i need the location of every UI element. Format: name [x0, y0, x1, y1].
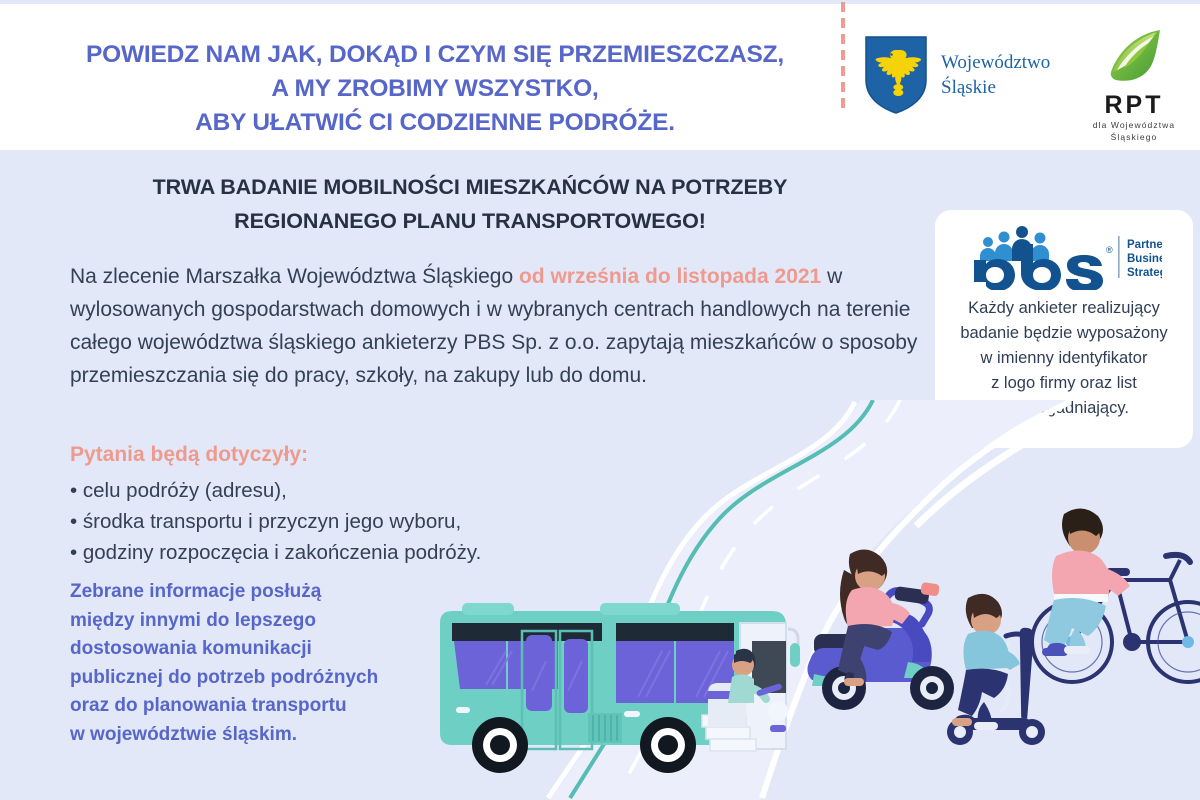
scooter-wheel-front — [910, 666, 954, 710]
silesian-eagle-crest-icon — [865, 36, 927, 114]
green-leaf-icon — [1097, 28, 1171, 90]
pbs-note-line-3: w imienny identyfikator — [960, 346, 1167, 371]
headline-line-3: ABY UŁATWIĆ CI CODZIENNE PODRÓŻE. — [40, 106, 830, 140]
bus-wheel-front — [640, 717, 696, 773]
pbs-people-logo-icon: ® Partner in Business Strategies — [966, 224, 1162, 290]
paragraph-highlight: od września do listopada 2021 — [519, 265, 821, 288]
bus-wheel-rear — [472, 717, 528, 773]
subheading-line-1: TRWA BADANIE MOBILNOŚCI MIESZKAŃCÓW NA P… — [60, 170, 880, 204]
voivodeship-logo-text: Województwo Śląskie — [941, 50, 1050, 100]
closing-line-4: publicznej do potrzeb podróżnych — [70, 664, 470, 693]
headline-line-1: POWIEDZ NAM JAK, DOKĄD I CZYM SIĘ PRZEMI… — [40, 38, 830, 72]
closing-line-1: Zebrane informacje posłużą — [70, 578, 470, 607]
rpt-sub-line-1: dla Województwa — [1078, 119, 1190, 131]
paragraph-part-1: Na zlecenie Marszałka Województwa Śląski… — [70, 265, 519, 288]
pbs-tagline-line-1: Partner in — [1127, 239, 1162, 251]
pbs-tagline-line-3: Strategies — [1127, 267, 1162, 279]
closing-line-6: w województwie śląskim. — [70, 721, 470, 750]
rpt-logo: RPT dla Województwa Śląskiego — [1078, 28, 1190, 143]
closing-line-3: dostosowania komunikacji — [70, 635, 470, 664]
travelers-illustration — [430, 400, 1200, 800]
pbs-registered-mark: ® — [1106, 245, 1113, 255]
voivodeship-line-1: Województwo — [941, 50, 1050, 75]
closing-statement: Zebrane informacje posłużą między innymi… — [70, 578, 470, 749]
voivodeship-line-2: Śląskie — [941, 75, 1050, 100]
closing-line-5: oraz do planowania transportu — [70, 692, 470, 721]
subheading-line-2: REGIONANEGO PLANU TRANSPORTOWEGO! — [60, 204, 880, 238]
questions-title: Pytania będą dotyczyły: — [70, 443, 308, 467]
voivodeship-logo: Województwo Śląskie — [865, 36, 1050, 114]
headline-line-2: A MY ZROBIMY WSZYSTKO, — [40, 72, 830, 106]
dashed-vertical-divider-icon — [841, 2, 845, 108]
poster-canvas: POWIEDZ NAM JAK, DOKĄD I CZYM SIĘ PRZEMI… — [0, 0, 1200, 800]
rpt-sub-line-2: Śląskiego — [1078, 131, 1190, 143]
page-subheading: TRWA BADANIE MOBILNOŚCI MIESZKAŃCÓW NA P… — [60, 170, 880, 238]
pbs-note-line-1: Każdy ankieter realizujący — [960, 296, 1167, 321]
closing-line-2: między innymi do lepszego — [70, 607, 470, 636]
winding-road-icon — [430, 400, 1200, 800]
cyclist-icon — [1032, 508, 1200, 682]
top-hairline — [0, 0, 1200, 4]
kick-scooter-rider-icon — [947, 594, 1045, 745]
page-headline: POWIEDZ NAM JAK, DOKĄD I CZYM SIĘ PRZEMI… — [40, 38, 830, 140]
pbs-note-line-4: z logo firmy oraz list — [960, 371, 1167, 396]
rpt-wordmark: RPT — [1078, 92, 1190, 119]
body-paragraph: Na zlecenie Marszałka Województwa Śląski… — [70, 260, 930, 392]
pbs-tagline-line-2: Business — [1127, 253, 1162, 265]
pbs-note-line-2: badanie będzie wyposażony — [960, 321, 1167, 346]
